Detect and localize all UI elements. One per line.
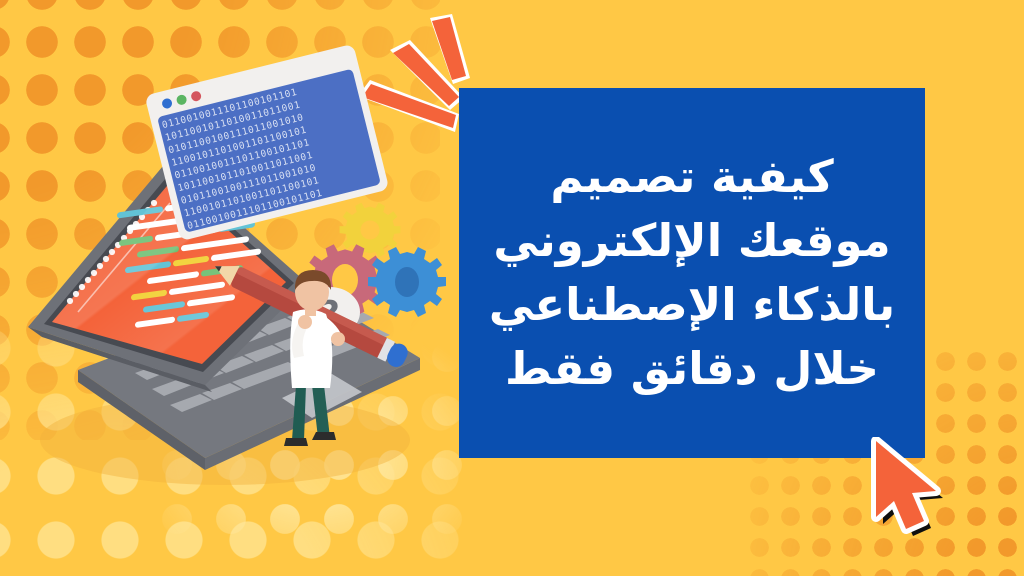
person-hand-left xyxy=(298,315,312,329)
hero-illustration: 0110010011101100101101 10110010110100110… xyxy=(0,40,470,510)
headline-line-2: موقعك الإلكتروني xyxy=(493,209,890,273)
headline-line-3: بالذكاء الإصطناعي xyxy=(489,273,895,337)
browser-window-binary: 0110010011101100101101 10110010110100110… xyxy=(144,44,389,242)
headline-line-4: خلال دقائق فقط xyxy=(505,337,879,401)
headline-line-1: كيفية تصميم xyxy=(550,145,833,209)
person-shoe-back xyxy=(284,438,308,446)
mouse-cursor-arrow xyxy=(866,437,962,537)
headline-panel: كيفية تصميم موقعك الإلكتروني بالذكاء الإ… xyxy=(459,88,925,458)
person-shoe-front xyxy=(312,432,336,440)
gear-blue xyxy=(368,247,446,317)
gear-yellow xyxy=(340,203,401,258)
person-hand-right xyxy=(331,332,345,346)
thumbnail-canvas: 0110010011101100101101 10110010110100110… xyxy=(0,0,1024,576)
